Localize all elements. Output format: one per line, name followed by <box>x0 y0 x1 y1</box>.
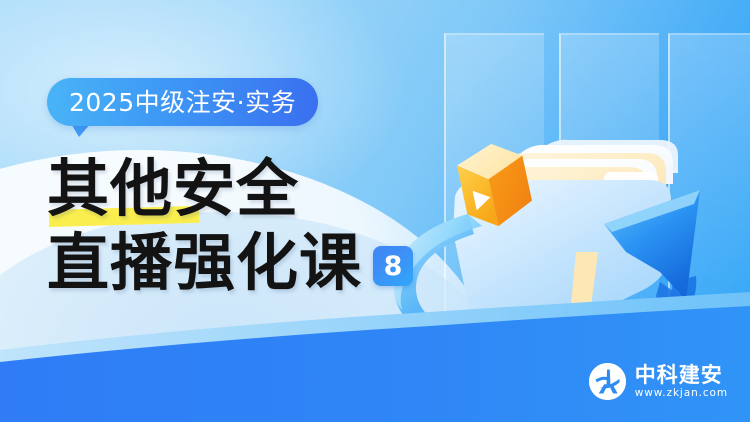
content-layer: 2025中级注安·实务 其他安全 直播强化课 8 <box>0 0 750 422</box>
headline-line-1: 其他安全 <box>47 152 527 226</box>
course-category-label: 2025中级注安·实务 <box>69 90 296 115</box>
headline-block: 其他安全 直播强化课 8 <box>47 152 527 300</box>
brand-url: www.zkjan.com <box>635 387 728 400</box>
brand-logo-text: 中科建安 www.zkjan.com <box>635 364 728 400</box>
zkjan-logo-icon <box>589 363 626 400</box>
headline-text-2: 直播强化课 <box>47 226 362 300</box>
course-banner: 2025中级注安·实务 其他安全 直播强化课 8 <box>0 0 750 422</box>
brand-logo: 中科建安 www.zkjan.com <box>589 363 728 400</box>
episode-number-badge: 8 <box>373 246 413 286</box>
headline-text-1: 其他安全 <box>47 152 527 226</box>
headline-line-2: 直播强化课 8 <box>47 226 527 300</box>
brand-name: 中科建安 <box>635 364 728 387</box>
course-category-tag: 2025中级注安·实务 <box>47 78 318 126</box>
